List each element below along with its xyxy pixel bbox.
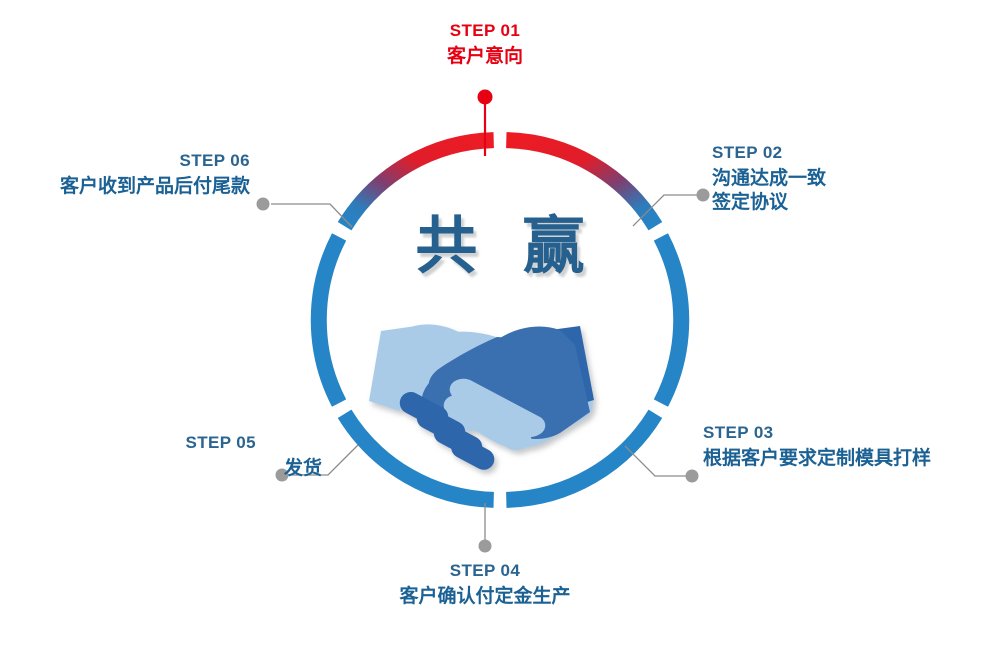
handshake-illustration bbox=[0, 0, 1000, 650]
step-title-06-line1: 客户收到产品后付尾款 bbox=[0, 175, 250, 199]
step-label-01[interactable]: STEP 01 客户意向 bbox=[385, 22, 585, 69]
center-title: 共 赢 bbox=[370, 216, 630, 278]
step-title-02-line2: 签定协议 bbox=[712, 191, 826, 215]
step-title-01-line1: 客户意向 bbox=[385, 45, 585, 69]
step-label-04[interactable]: STEP 04 客户确认付定金生产 bbox=[385, 562, 585, 609]
step-label-02[interactable]: STEP 02 沟通达成一致 签定协议 bbox=[712, 144, 826, 215]
handshake-icon bbox=[369, 324, 594, 473]
step-number-05: STEP 05 bbox=[60, 434, 322, 453]
step-label-06[interactable]: STEP 06 客户收到产品后付尾款 bbox=[0, 152, 250, 199]
step-number-03: STEP 03 bbox=[703, 424, 931, 443]
step-title-02-line1: 沟通达成一致 bbox=[712, 167, 826, 191]
step-label-05[interactable]: STEP 05 发货 bbox=[60, 434, 322, 481]
step-title-05-line1: 发货 bbox=[60, 457, 322, 481]
step-title-03-line1: 根据客户要求定制模具打样 bbox=[703, 447, 931, 471]
step-title-04-line1: 客户确认付定金生产 bbox=[385, 585, 585, 609]
step-number-04: STEP 04 bbox=[385, 562, 585, 581]
step-number-02: STEP 02 bbox=[712, 144, 826, 163]
process-cycle-diagram: 共 赢 STEP 01 客户意向 STEP 02 沟通达成一致 签定协议 STE… bbox=[0, 0, 1000, 650]
step-label-03[interactable]: STEP 03 根据客户要求定制模具打样 bbox=[703, 424, 931, 471]
step-number-06: STEP 06 bbox=[0, 152, 250, 171]
step-number-01: STEP 01 bbox=[385, 22, 585, 41]
